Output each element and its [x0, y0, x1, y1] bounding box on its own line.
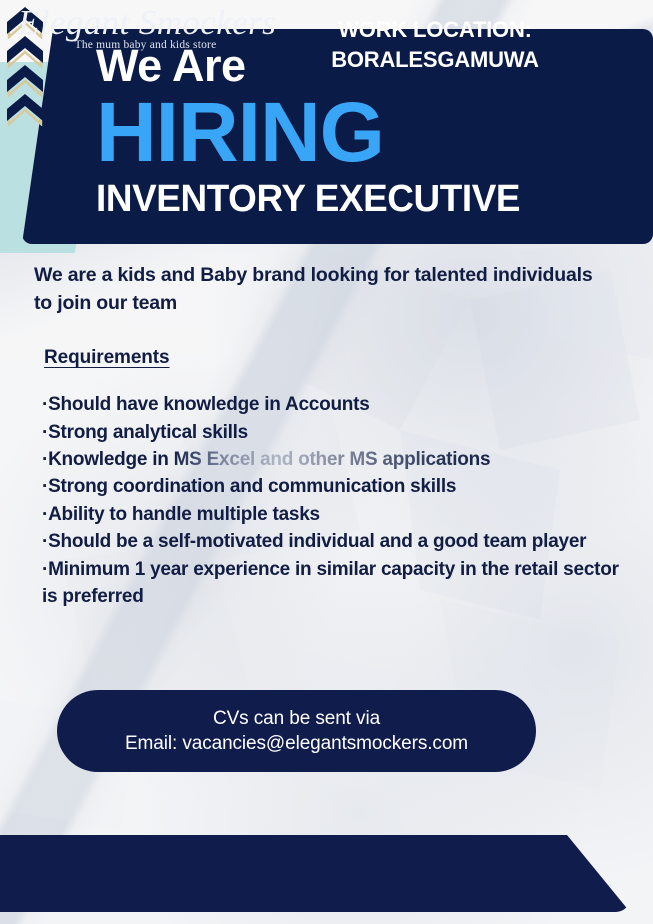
work-location-value: BORALESGAMUWA [290, 45, 580, 75]
brand-logo: Elegant Smockers The mum baby and kids s… [18, 4, 273, 906]
work-location-label: WORK LOCATION: [290, 15, 580, 45]
brand-name: Elegant Smockers [18, 4, 273, 43]
work-location-block: WORK LOCATION: BORALESGAMUWA [290, 15, 580, 900]
job-poster: We Are HIRING INVENTORY EXECUTIVE We are… [0, 0, 653, 924]
